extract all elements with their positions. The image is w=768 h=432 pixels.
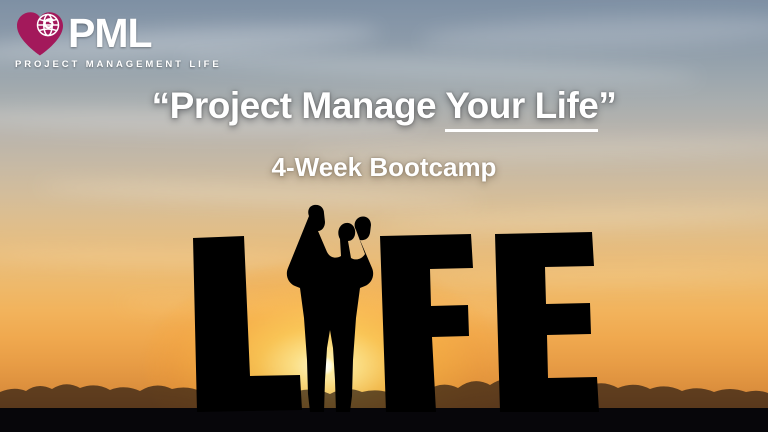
heart-globe-icon <box>14 9 66 57</box>
pml-wordmark: PML <box>68 13 152 54</box>
poster-canvas: PML PROJECT MANAGEMENT LIFE “Project Man… <box>0 0 768 432</box>
page-title: “Project Manage Your Life” <box>0 86 768 127</box>
headline-close-quote: ” <box>598 85 616 126</box>
letter-e-silhouette <box>495 232 599 412</box>
pml-logo[interactable]: PML PROJECT MANAGEMENT LIFE <box>14 8 194 74</box>
pml-tagline: PROJECT MANAGEMENT LIFE <box>15 59 194 70</box>
letter-f-silhouette <box>380 234 473 412</box>
headline-emphasis: Your Life <box>445 85 598 132</box>
letter-l-silhouette <box>193 236 302 412</box>
headline-text: Project Manage <box>170 85 446 126</box>
headline-open-quote: “ <box>152 85 170 126</box>
page-subtitle: 4-Week Bootcamp <box>0 152 768 183</box>
